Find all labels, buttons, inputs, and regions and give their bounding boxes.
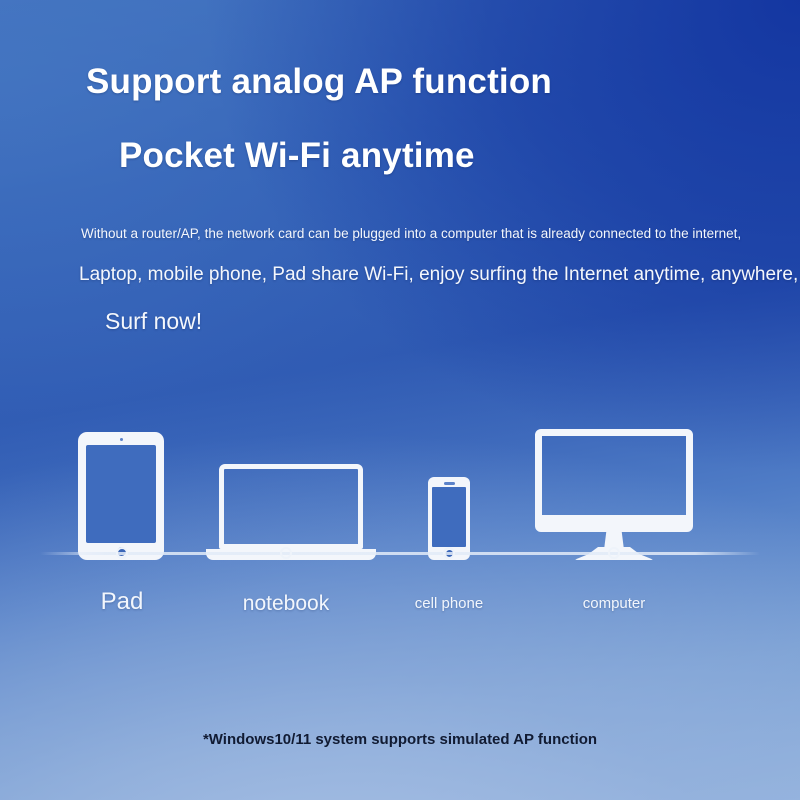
connector-line xyxy=(40,552,760,555)
node-marker-pad xyxy=(116,547,128,559)
device-label-cell-phone: cell phone xyxy=(415,595,483,612)
device-label-pad: Pad xyxy=(101,588,144,616)
monitor-screen xyxy=(535,429,693,532)
node-marker-phone xyxy=(443,547,455,559)
body-line-share: Laptop, mobile phone, Pad share Wi-Fi, e… xyxy=(79,264,798,286)
tablet-screen xyxy=(86,445,156,543)
body-line-router: Without a router/AP, the network card ca… xyxy=(81,226,741,241)
footnote-text: *Windows10/11 system supports simulated … xyxy=(0,731,800,748)
laptop-icon xyxy=(206,464,376,560)
promo-banner: Support analog AP function Pocket Wi-Fi … xyxy=(0,0,800,800)
node-marker-notebook xyxy=(280,547,292,559)
device-label-computer: computer xyxy=(583,595,646,612)
phone-screen xyxy=(432,487,466,547)
tablet-icon xyxy=(78,432,164,560)
node-marker-computer xyxy=(608,547,620,559)
phone-speaker-slot xyxy=(444,482,455,485)
device-label-notebook: notebook xyxy=(243,592,329,616)
tablet-body xyxy=(78,432,164,560)
monitor-icon xyxy=(535,429,693,560)
headline-primary: Support analog AP function xyxy=(86,62,552,102)
laptop-screen xyxy=(219,464,363,549)
body-line-cta: Surf now! xyxy=(105,308,202,335)
device-illustration-row xyxy=(0,385,800,560)
tablet-camera-dot xyxy=(120,438,123,441)
headline-secondary: Pocket Wi-Fi anytime xyxy=(119,136,475,176)
